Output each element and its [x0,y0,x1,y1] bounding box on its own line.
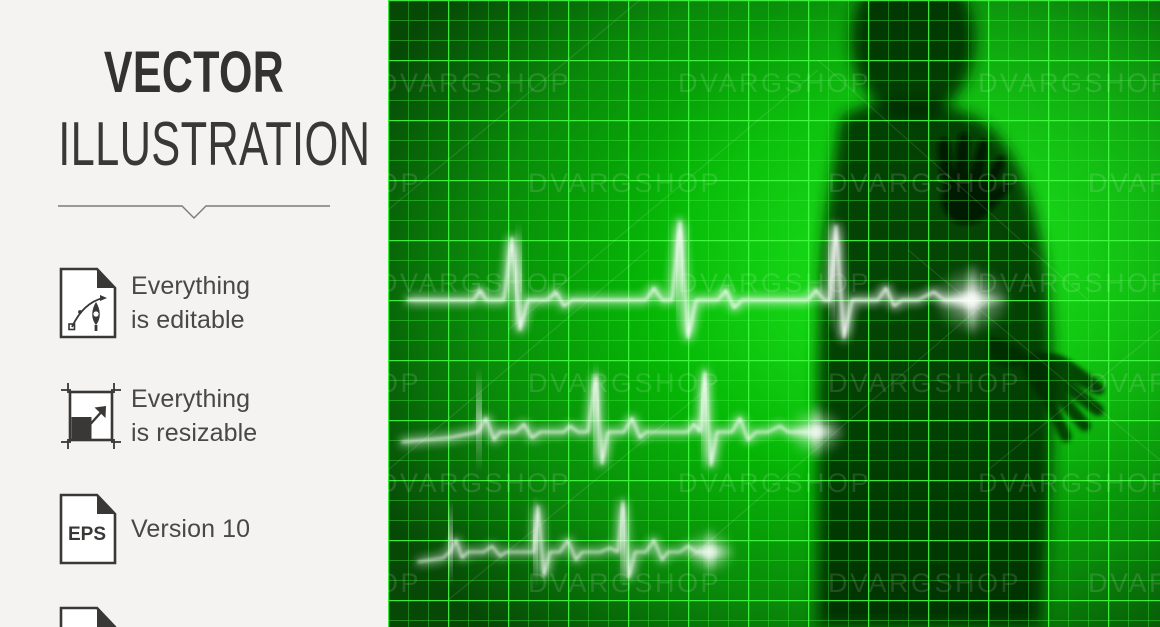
svg-text:DVARGSHOP: DVARGSHOP [388,468,571,498]
feature-list: Everything is editable [0,246,388,627]
page-title-primary: VECTOR [50,44,337,102]
svg-text:DVARGSHOP: DVARGSHOP [828,168,1021,198]
svg-text:DVARGSHOP: DVARGSHOP [1088,368,1160,398]
svg-text:DVARGSHOP: DVARGSHOP [828,568,1021,598]
svg-text:DVARGSHOP: DVARGSHOP [1088,568,1160,598]
feature-label-version: Version 10 [131,512,250,546]
title-block: VECTOR ILLUSTRATION [0,0,388,176]
ekg-artwork: DVARGSHOP DVARGSHOP DVARGSHOP DVARGSHOP … [388,0,1160,627]
illustration-preview: VECTOR ILLUSTRATION [0,0,1160,627]
svg-text:DVARGSHOP: DVARGSHOP [388,168,421,198]
feature-item-resizable: Everything is resizable [59,359,388,472]
document-folded-corner-icon [59,603,131,627]
feature-item-editable: Everything is editable [59,246,388,359]
feature-item-quality: High quality [59,585,388,627]
eps-document-icon: EPS [59,490,131,568]
svg-text:DVARGSHOP: DVARGSHOP [388,568,421,598]
divider-with-v-notch [58,198,330,220]
svg-text:DVARGSHOP: DVARGSHOP [388,368,421,398]
svg-text:DVARGSHOP: DVARGSHOP [828,368,1021,398]
page-title-secondary: ILLUSTRATION [58,114,330,176]
document-pen-curve-icon [59,264,131,342]
info-panel: VECTOR ILLUSTRATION [0,0,388,627]
ekg-artwork-panel: DVARGSHOP DVARGSHOP DVARGSHOP DVARGSHOP … [388,0,1160,627]
feature-label-resizable: Everything is resizable [131,382,257,450]
svg-text:DVARGSHOP: DVARGSHOP [388,68,571,98]
svg-text:DVARGSHOP: DVARGSHOP [978,468,1160,498]
svg-text:DVARGSHOP: DVARGSHOP [678,468,871,498]
svg-text:DVARGSHOP: DVARGSHOP [978,68,1160,98]
eps-icon-text: EPS [68,524,106,545]
feature-label-editable: Everything is editable [131,269,250,337]
svg-text:DVARGSHOP: DVARGSHOP [528,168,721,198]
resize-arrow-crop-marks-icon [59,377,131,455]
svg-text:DVARGSHOP: DVARGSHOP [1088,168,1160,198]
svg-text:DVARGSHOP: DVARGSHOP [678,68,871,98]
svg-text:DVARGSHOP: DVARGSHOP [528,368,721,398]
feature-item-version: EPS Version 10 [59,472,388,585]
